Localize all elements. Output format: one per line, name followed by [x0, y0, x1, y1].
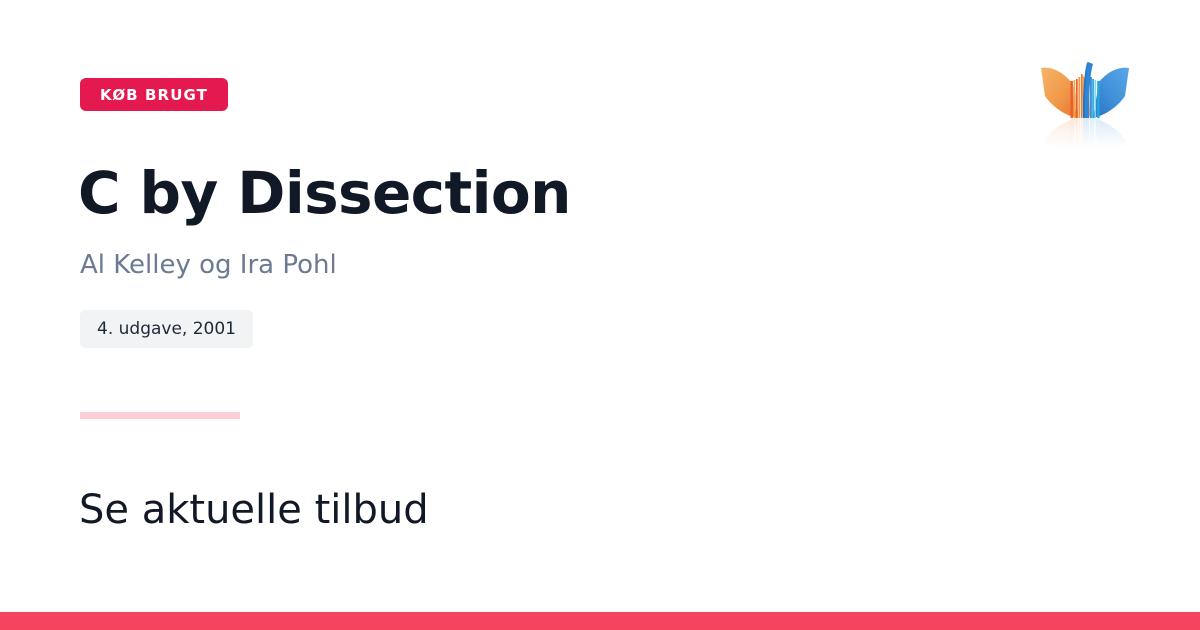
logo-mark — [1041, 62, 1129, 118]
promo-card: KØB BRUGT C by Dissection Al Kelley og I… — [0, 0, 1200, 630]
page-title: C by Dissection — [78, 157, 571, 229]
book-logo-icon — [1037, 56, 1133, 148]
status-badge: KØB BRUGT — [80, 78, 228, 111]
book-authors: Al Kelley og Ira Pohl — [80, 247, 337, 283]
bottom-accent-bar — [0, 612, 1200, 630]
book-logo — [1037, 56, 1133, 148]
edition-chip: 4. udgave, 2001 — [80, 310, 253, 348]
divider — [80, 412, 240, 419]
cta-text[interactable]: Se aktuelle tilbud — [79, 484, 429, 536]
